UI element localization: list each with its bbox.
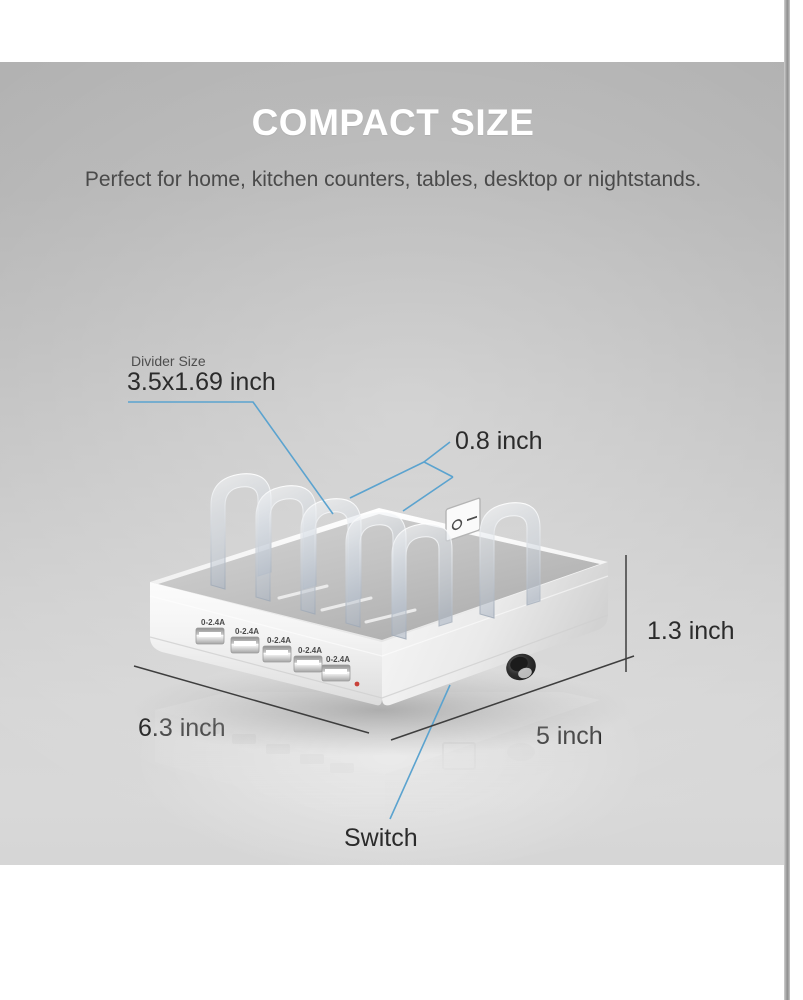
page-root: COMPACT SIZE Perfect for home, kitchen c… [0,0,803,1000]
hero-panel: COMPACT SIZE Perfect for home, kitchen c… [0,62,786,865]
usb-port [231,637,259,653]
usb-port [196,628,224,644]
product-illustration: 0-2.4A 0-2.4A 0-2.4A 0-2.4A 0-2.4A [0,62,786,865]
usb-port-label: 0-2.4A [326,655,350,664]
usb-port-label: 0-2.4A [235,627,259,636]
usb-port-label: 0-2.4A [298,646,322,655]
vertical-scrollbar[interactable] [784,0,790,1000]
usb-port [263,646,291,662]
usb-port-label: 0-2.4A [267,636,291,645]
usb-port [322,665,350,681]
usb-port-label: 0-2.4A [201,618,225,627]
led-indicator [355,682,360,687]
usb-port [294,656,322,672]
